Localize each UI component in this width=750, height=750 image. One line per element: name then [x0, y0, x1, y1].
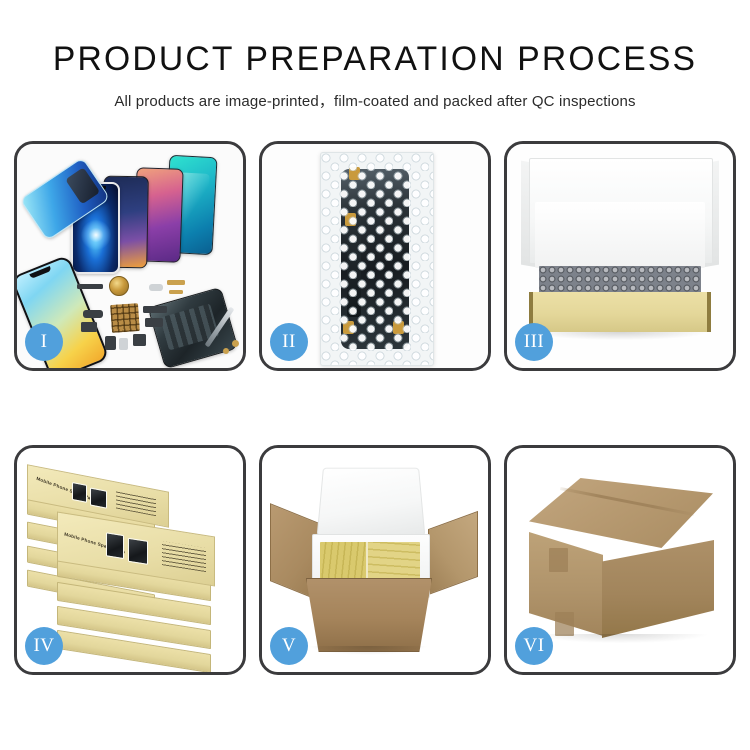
carton-tab-upper	[549, 548, 568, 572]
box-window-front-2	[128, 538, 148, 565]
panel-2-image: II	[262, 144, 488, 368]
carton-body	[306, 578, 432, 652]
part-screw-b	[223, 348, 229, 354]
part-antenna-strip	[77, 284, 103, 289]
part-chip-grid-icon	[110, 303, 140, 333]
part-flex-cable-a	[143, 306, 167, 313]
page-header: PRODUCT PREPARATION PROCESS All products…	[0, 0, 750, 111]
foam-case-lid	[317, 468, 426, 537]
box-label-rear: Mobile Phone Spare Parts	[36, 476, 97, 503]
part-earpiece	[133, 334, 146, 346]
part-flex-cable-b	[145, 318, 163, 327]
box-drop-shadow	[533, 332, 707, 340]
part-vibration-motor-icon	[109, 276, 129, 296]
step-badge-3: III	[515, 323, 553, 361]
page-title: PRODUCT PREPARATION PROCESS	[4, 42, 747, 78]
connector-top	[349, 167, 360, 180]
step-badge-6: VI	[515, 627, 553, 665]
process-step-panel-1[interactable]: I	[14, 141, 246, 371]
part-battery-connector	[105, 336, 116, 350]
connector-bottom-right	[393, 321, 404, 334]
connector-bottom-left	[343, 321, 354, 334]
sealed-carton-drop-shadow	[535, 634, 707, 643]
carton-drop-shadow	[308, 646, 428, 655]
step-badge-4: IV	[25, 627, 63, 665]
part-camera-module	[83, 310, 103, 318]
part-speaker-mesh	[149, 284, 163, 291]
part-button-cap	[119, 338, 128, 350]
panel-4-image: Mobile Phone Spare Parts Mobile Phone Sp…	[17, 448, 243, 672]
process-step-panel-6[interactable]: VI	[504, 445, 736, 675]
box-spec-lines-rear	[116, 490, 156, 516]
panel-3-image: III	[507, 144, 733, 368]
wrapped-flex-cable	[347, 211, 361, 317]
step-badge-2: II	[270, 323, 308, 361]
box-spec-lines-front	[162, 541, 206, 572]
grey-bubble-cushioning	[539, 266, 701, 294]
part-gold-flex-a	[167, 280, 185, 285]
carton-tab-lower	[555, 612, 574, 636]
part-sim-tray	[81, 322, 97, 332]
box-window-rear-2	[90, 487, 107, 508]
process-step-panel-5[interactable]: V	[259, 445, 491, 675]
process-step-grid: I II III	[14, 141, 736, 675]
box-window-rear-1	[72, 482, 87, 503]
connector-middle	[345, 213, 356, 226]
panel-1-image: I	[17, 144, 243, 368]
part-gold-flex-b	[169, 290, 183, 294]
part-screw-a	[232, 340, 239, 347]
kraft-box-front-wall	[529, 292, 711, 332]
panel-6-image: VI	[507, 448, 733, 672]
step-badge-5: V	[270, 627, 308, 665]
process-step-panel-2[interactable]: II	[259, 141, 491, 371]
wrapped-screen-assembly	[341, 169, 409, 349]
bubble-wrap-bag	[320, 152, 434, 366]
foam-sheet	[535, 202, 705, 268]
step-badge-1: I	[25, 323, 63, 361]
panel-5-image: V	[262, 448, 488, 672]
process-step-panel-3[interactable]: III	[504, 141, 736, 371]
box-window-front-1	[106, 532, 124, 559]
process-step-panel-4[interactable]: Mobile Phone Spare Parts Mobile Phone Sp…	[14, 445, 246, 675]
page-subtitle: All products are image-printed，film-coat…	[0, 90, 750, 111]
